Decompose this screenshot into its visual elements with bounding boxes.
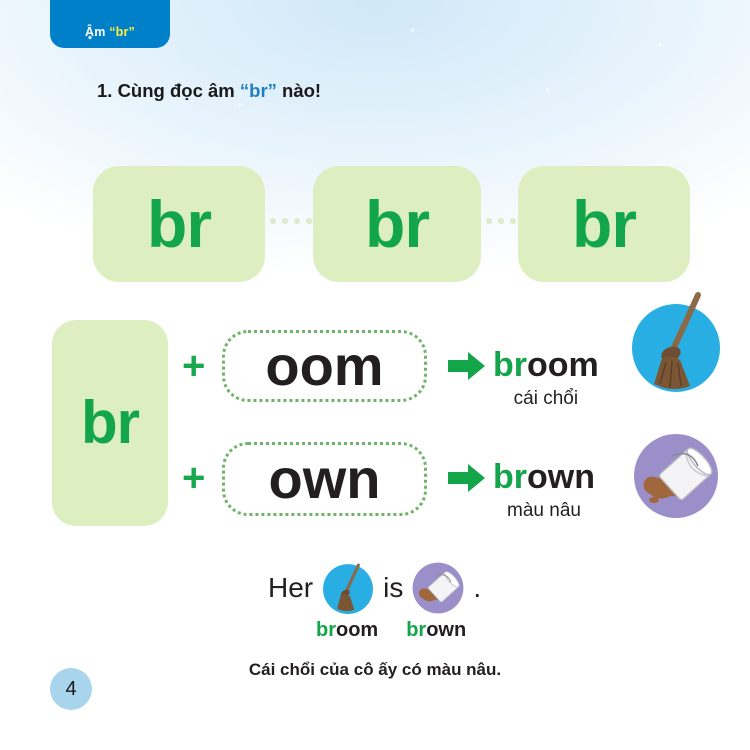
dot [510, 218, 516, 224]
sentence-picture-labels: broom brown [316, 620, 466, 640]
plus-sign-row-2: + [182, 458, 205, 498]
result-brown: brown màu nâu [493, 460, 595, 522]
sentence-label-broom: broom [316, 620, 378, 640]
rime-box-oom: oom [222, 330, 427, 402]
sentence-translation: Cái chổi của cô ấy có màu nâu. [0, 660, 750, 680]
br-tile-3-label: br [572, 191, 636, 257]
rime-box-own: own [222, 442, 427, 516]
br-tile-3: br [518, 166, 690, 282]
sentence-label-brown-rime: own [426, 619, 466, 641]
sentence-label-broom-rime: oom [336, 619, 378, 641]
sentence-label-brown: brown [406, 620, 466, 640]
arrow-right-icon [448, 350, 486, 382]
onset-block-br: br [52, 320, 168, 526]
paint-can-icon [412, 562, 464, 614]
br-tile-1-label: br [147, 191, 211, 257]
dot [282, 218, 288, 224]
br-tile-1: br [93, 166, 265, 282]
onset-block-label: br [81, 393, 139, 453]
dot [486, 218, 492, 224]
result-brown-rime: own [527, 458, 595, 496]
sentence-label-broom-onset: br [316, 619, 336, 641]
sentence-word-is: is [383, 574, 403, 602]
dot [306, 218, 312, 224]
result-brown-word: brown [493, 460, 595, 494]
sentence-brown-picture [412, 562, 464, 614]
broom-picture [626, 292, 726, 392]
tab-sound-label: “br” [109, 25, 135, 39]
result-brown-gloss: màu nâu [493, 500, 595, 522]
dot [498, 218, 504, 224]
sentence-period: . [473, 574, 481, 602]
paint-can-icon [632, 432, 720, 520]
arrow-right-icon [448, 462, 486, 494]
result-broom-rime: oom [527, 346, 599, 384]
result-brown-onset: br [493, 458, 527, 496]
dot [294, 218, 300, 224]
paint-can-picture [632, 432, 720, 520]
worksheet-page: Âm “br” 1. Cùng đọc âm “br” nào! br br b… [0, 0, 750, 750]
sentence-word-her: Her [268, 574, 313, 602]
result-broom-gloss: cái chổi [493, 388, 599, 410]
instruction-after: nào! [282, 80, 321, 101]
instruction-highlight: “br” [240, 80, 277, 101]
sentence-label-brown-onset: br [406, 619, 426, 641]
br-tile-2-label: br [365, 191, 429, 257]
instruction-before: 1. Cùng đọc âm [97, 80, 235, 101]
instruction-text: 1. Cùng đọc âm “br” nào! [97, 80, 321, 102]
sentence-broom-picture [322, 562, 374, 614]
sentence-line: Her is . [268, 562, 481, 614]
rime-box-oom-label: oom [265, 338, 383, 394]
result-broom: broom cái chổi [493, 348, 599, 410]
result-broom-onset: br [493, 346, 527, 384]
rime-box-own-label: own [269, 451, 381, 507]
tab-prefix-label: Âm [85, 25, 106, 39]
plus-sign-row-1: + [182, 346, 205, 386]
section-tab: Âm “br” [50, 0, 170, 48]
dot [270, 218, 276, 224]
broom-icon [322, 562, 374, 614]
result-broom-word: broom [493, 348, 599, 382]
broom-icon [626, 292, 726, 392]
page-number-badge: 4 [50, 668, 92, 710]
br-tile-2: br [313, 166, 481, 282]
